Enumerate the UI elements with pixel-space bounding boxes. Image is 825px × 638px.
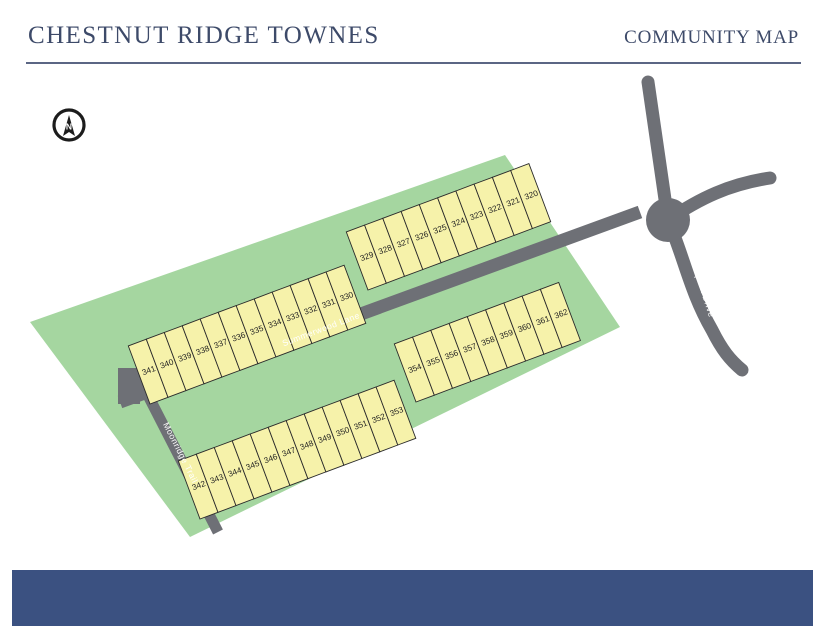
footer-bar xyxy=(12,570,813,626)
site-plan-svg: 3293283273263253243233223213203413403393… xyxy=(0,72,825,562)
page-subtitle: COMMUNITY MAP xyxy=(624,27,799,49)
community-map-page: CHESTNUT RIDGE TOWNES COMMUNITY MAP 3293… xyxy=(0,0,825,638)
page-title: CHESTNUT RIDGE TOWNES xyxy=(28,22,380,50)
header-divider xyxy=(26,62,801,64)
north-arrow-icon: N xyxy=(54,110,84,140)
roundabout xyxy=(646,198,690,242)
site-plan-map: 3293283273263253243233223213203413403393… xyxy=(0,72,825,562)
road-stub xyxy=(118,368,140,404)
page-header: CHESTNUT RIDGE TOWNES COMMUNITY MAP xyxy=(0,0,825,72)
north-letter: N xyxy=(66,122,72,132)
